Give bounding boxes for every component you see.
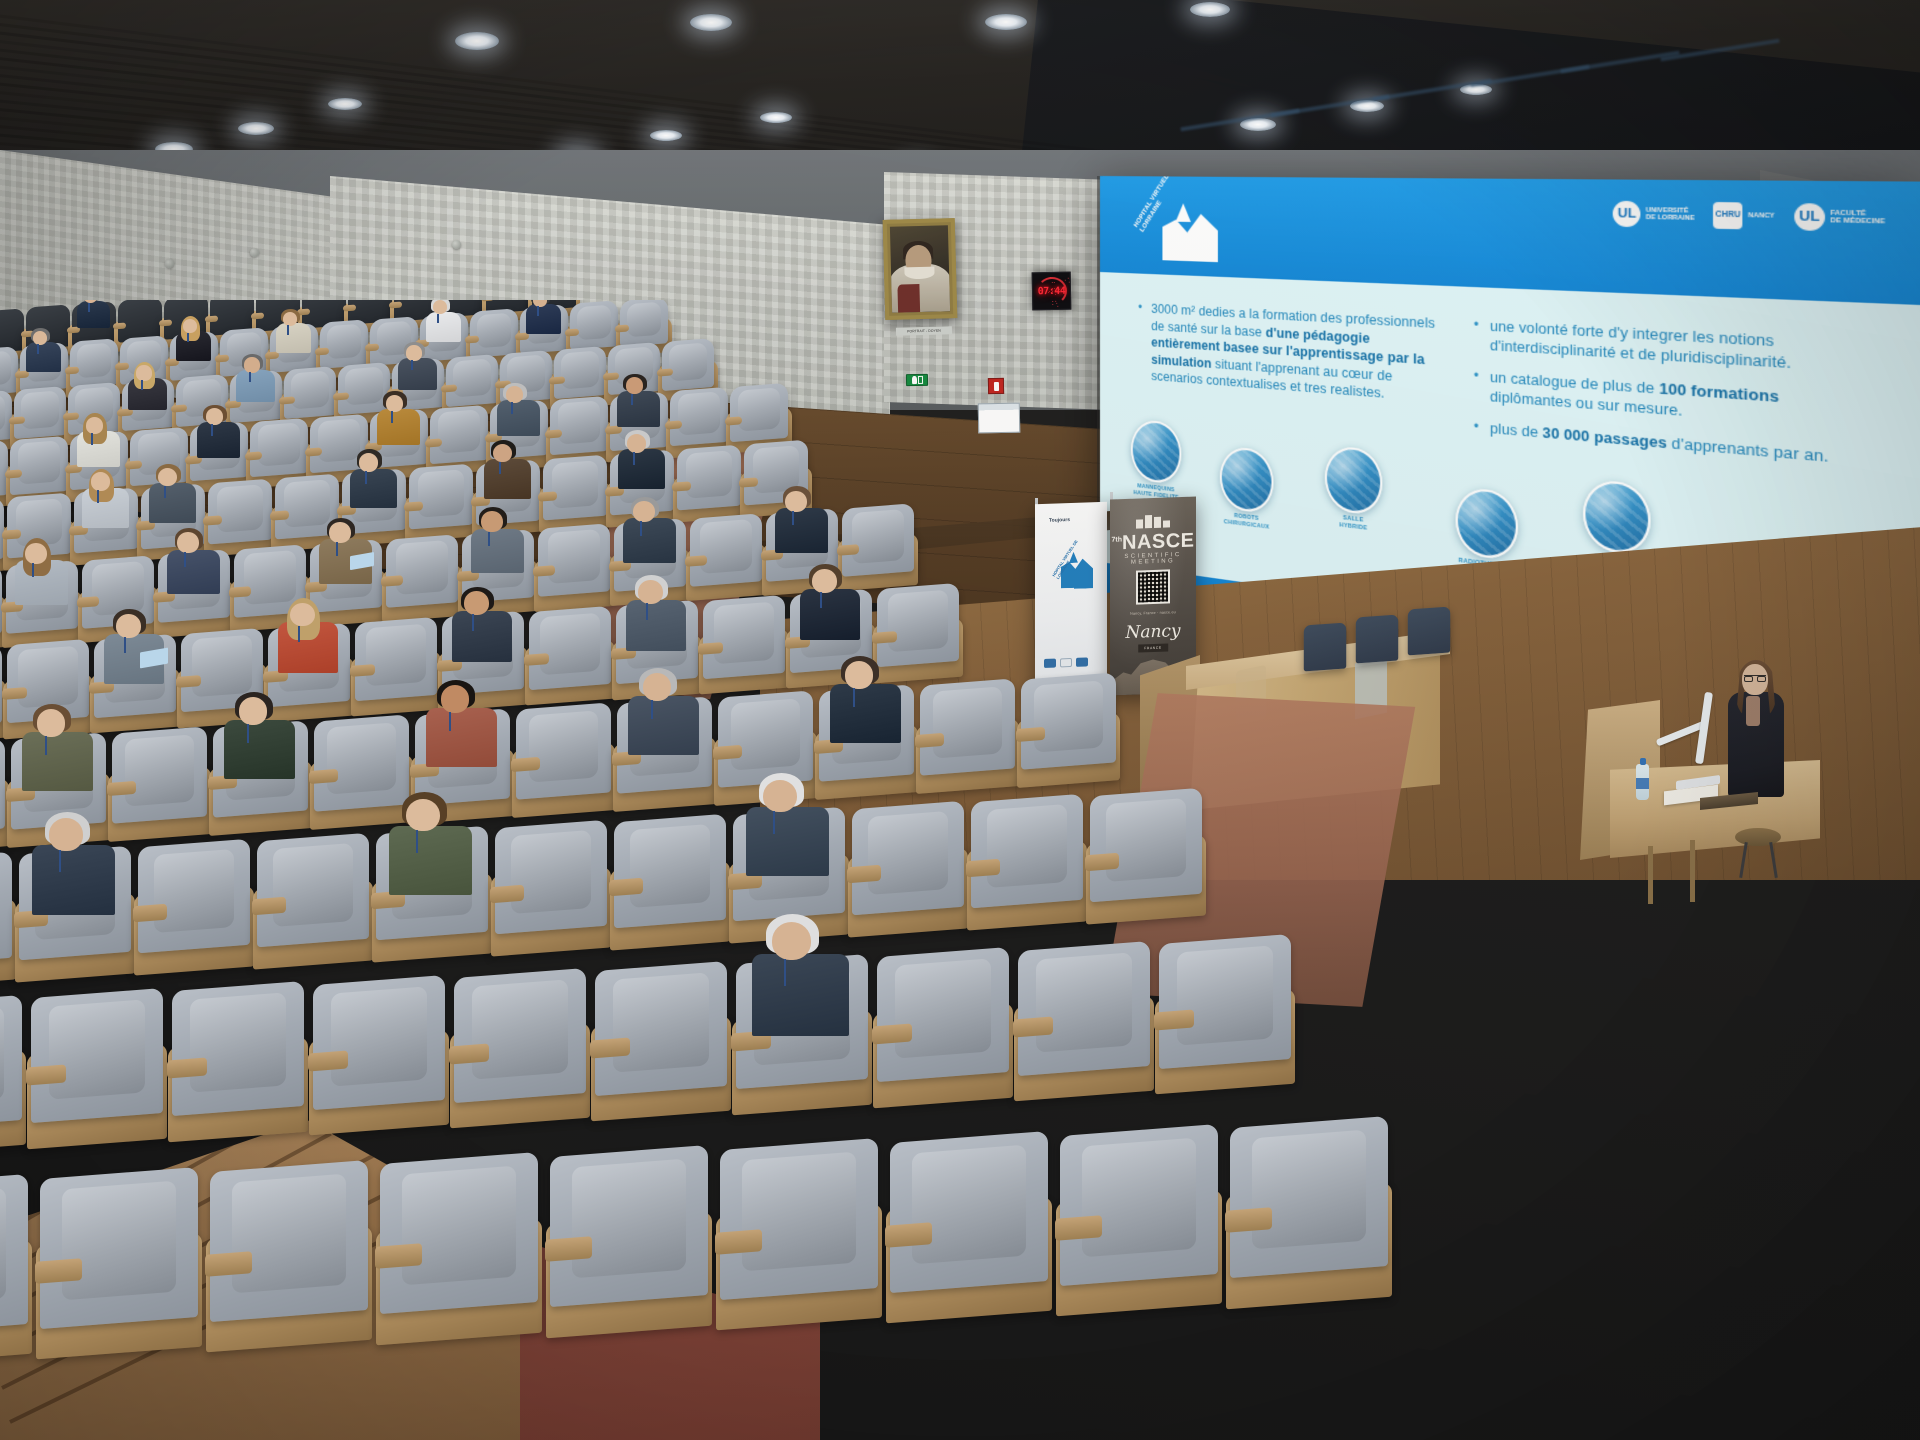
seat-armrest (308, 1051, 348, 1073)
seat-armrest (1055, 1215, 1102, 1241)
audience-member (13, 527, 78, 599)
auditorium-seat[interactable] (890, 1131, 1048, 1293)
auditorium-seat[interactable] (720, 1138, 878, 1300)
audience-member-head (329, 522, 351, 543)
audience-member-head (283, 312, 297, 326)
audience-member-head (845, 661, 874, 689)
auditorium-seat[interactable] (0, 852, 12, 967)
auditorium-seat[interactable] (516, 702, 611, 800)
audience-member (165, 516, 230, 588)
seat-armrest (404, 501, 423, 511)
seat-armrest (545, 1236, 592, 1262)
lanyard (91, 433, 93, 445)
audience-member (102, 596, 176, 678)
audience-member (482, 430, 540, 494)
audience-member (127, 354, 174, 406)
audience-member-head (290, 603, 315, 627)
lanyard (365, 471, 367, 484)
audience-member-head (643, 673, 672, 701)
auditorium-seat[interactable] (10, 435, 68, 495)
partner-logo-label: UNIVERSITÉ DE LORRAINE (1646, 207, 1695, 222)
lanyard (141, 380, 143, 390)
partner-logo: ULUNIVERSITÉ DE LORRAINE (1613, 198, 1695, 230)
audience-member (317, 506, 382, 578)
auditorium-seat[interactable] (677, 445, 741, 511)
partner-logo-mark: CHRU (1713, 202, 1742, 229)
audience-member-torso (775, 508, 828, 553)
lanyard (249, 372, 251, 382)
auditorium-seat[interactable] (920, 678, 1015, 776)
auditorium-seat[interactable] (380, 1152, 538, 1314)
audience-member-head (481, 511, 503, 532)
seat-armrest (1085, 852, 1119, 870)
seat-armrest (167, 1057, 207, 1079)
auditorium-seat[interactable] (70, 339, 118, 388)
audience-member-torso (22, 732, 92, 791)
seat-armrest (872, 1023, 912, 1045)
ceiling-downlight (760, 112, 792, 123)
auditorium-seat[interactable] (320, 320, 368, 369)
auditorium-seat[interactable] (1090, 788, 1202, 903)
audience-member (275, 301, 318, 349)
audience-member-head (136, 365, 152, 380)
audience-member-torso (623, 518, 676, 563)
audience-member-torso (452, 611, 513, 662)
audience-member-torso (830, 684, 900, 743)
auditorium-seat[interactable] (0, 738, 5, 836)
auditorium-seat[interactable] (730, 383, 788, 443)
audience-member (469, 496, 534, 568)
audience-member-torso (628, 696, 698, 755)
lanyard (773, 811, 775, 833)
partner-logo: CHRUNANCY (1713, 200, 1774, 233)
lanyard (164, 486, 166, 499)
lanyard (416, 830, 418, 852)
audience-member-head (785, 491, 807, 512)
audience-member (425, 665, 511, 760)
audience-member (749, 893, 868, 1025)
lanyard (391, 411, 393, 423)
audience-member-torso (32, 845, 115, 914)
audience-member (21, 689, 107, 784)
ceiling-downlight (1190, 2, 1230, 17)
audience-member (30, 794, 131, 906)
auditorium-seat[interactable] (313, 975, 445, 1111)
auditorium-seat[interactable] (877, 947, 1009, 1083)
audience-member (397, 334, 444, 386)
audience-member-head (386, 395, 403, 412)
audience-member (223, 677, 309, 772)
seat-armrest (1225, 1207, 1272, 1233)
audience-member-head (812, 569, 837, 593)
seat-armrest (490, 884, 524, 902)
lanyard (499, 462, 501, 475)
auditorium-seat[interactable] (570, 301, 618, 350)
lanyard (59, 850, 61, 872)
audience-member-torso (626, 600, 687, 651)
audience-member-head (177, 532, 199, 553)
seat-armrest (615, 324, 629, 332)
audience-member-torso (800, 589, 861, 640)
audience-member-head (638, 580, 663, 604)
seat-armrest (333, 392, 349, 400)
lanyard (336, 542, 338, 556)
auditorium-seat[interactable] (614, 813, 726, 928)
audience-member-torso (752, 954, 850, 1036)
auditorium-seat[interactable] (550, 1145, 708, 1307)
lanyard (184, 552, 186, 566)
auditorium-seat[interactable] (670, 387, 728, 447)
audience-member-head (441, 685, 470, 713)
audience-member (80, 458, 138, 522)
lanyard (124, 637, 126, 653)
lanyard (187, 333, 189, 343)
partner-logos-group: ULUNIVERSITÉ DE LORRAINECHRUNANCYULFACUL… (1613, 198, 1885, 234)
audience-member-torso (526, 304, 562, 334)
ceiling-downlight (455, 32, 499, 50)
seat-armrest (538, 491, 557, 501)
audience-member-head (33, 331, 47, 345)
lanyard (651, 700, 653, 719)
seat-armrest (159, 319, 172, 326)
audience-member (773, 475, 838, 547)
auditorium-seat[interactable] (172, 981, 304, 1117)
seat-armrest (549, 376, 565, 384)
auditorium-seat[interactable] (495, 820, 607, 935)
auditorium-seat[interactable] (0, 1174, 28, 1336)
lanyard (437, 314, 439, 324)
seat-armrest (133, 904, 167, 922)
audience-member (76, 404, 128, 462)
audience-member-head (763, 780, 797, 812)
ceiling-downlight (238, 122, 274, 135)
audience-member-torso (426, 708, 496, 767)
lanyard (633, 452, 635, 465)
audience-member-head (49, 818, 83, 850)
auditorium-seat[interactable] (543, 454, 607, 520)
audience-member-head (25, 543, 47, 564)
ceiling-speaker-icon (452, 240, 461, 249)
seat-armrest (252, 897, 286, 915)
seat-armrest (389, 301, 402, 308)
audience-member-head (626, 377, 643, 394)
audience-member (616, 365, 668, 423)
audience-member (196, 395, 248, 453)
audience-member (425, 300, 468, 338)
audience-member-head (627, 434, 646, 453)
audience-member-head (464, 591, 489, 615)
auditorium-seat[interactable] (257, 832, 369, 947)
auditorium-seat[interactable] (250, 418, 308, 478)
seat-armrest (35, 1258, 82, 1284)
partner-logo-label: NANCY (1748, 212, 1775, 220)
lanyard (411, 360, 413, 370)
auditorium-seat[interactable] (40, 1167, 198, 1329)
seat-armrest (533, 565, 555, 577)
audience-member-head (406, 345, 422, 360)
auditorium-seat[interactable] (31, 988, 163, 1124)
audience-member (798, 551, 872, 633)
ceiling-downlight (985, 14, 1027, 30)
audience-member-head (633, 501, 655, 522)
lanyard (97, 490, 99, 503)
audience-member-head (359, 453, 378, 472)
partner-logo-mark: UL (1613, 201, 1641, 228)
auditorium-seat[interactable] (1060, 1124, 1218, 1286)
ceiling-downlight (328, 98, 362, 110)
auditorium-seat[interactable] (971, 794, 1083, 909)
seat-armrest (26, 1064, 66, 1086)
auditorium-seat[interactable] (210, 1160, 368, 1322)
auditorium-seat[interactable] (529, 606, 611, 690)
seat-armrest (609, 878, 643, 896)
partner-logo-mark: UL (1794, 203, 1825, 231)
audience-member (616, 420, 674, 484)
audience-member-head (91, 472, 110, 491)
audience-member (496, 373, 548, 431)
audience-member-head (86, 417, 103, 434)
auditorium-seat[interactable] (284, 366, 336, 419)
seat-armrest (715, 1229, 762, 1255)
auditorium-seat[interactable] (470, 308, 518, 357)
lanyard (646, 603, 648, 619)
audience-member-torso (618, 449, 665, 489)
audience-member (624, 562, 698, 644)
lanyard (32, 563, 34, 577)
audience-member-head (506, 386, 523, 403)
auditorium-seat[interactable] (595, 961, 727, 1097)
audience-member (147, 454, 205, 518)
audience-member-head (244, 357, 260, 372)
audience-member-torso (484, 459, 531, 499)
audience-member-torso (26, 342, 62, 372)
audience-member (376, 382, 428, 440)
audience-member (450, 573, 524, 655)
lanyard (511, 402, 513, 414)
partner-logo: ULFACULTÉ DE MÉDECINE (1794, 201, 1885, 235)
auditorium-seat[interactable] (690, 513, 762, 587)
seat-armrest (305, 447, 322, 456)
ceiling-downlight (690, 14, 732, 31)
auditorium-seat[interactable] (620, 300, 668, 346)
lanyard (247, 724, 249, 743)
seat-armrest (9, 416, 25, 424)
audience-member-torso (167, 550, 220, 595)
seat-armrest (885, 1222, 932, 1248)
seat-armrest (229, 586, 251, 598)
auditorium-seat[interactable] (0, 995, 22, 1131)
audience-member (627, 653, 713, 748)
lanyard (853, 688, 855, 707)
audience-member (235, 346, 282, 398)
auditorium-seat[interactable] (662, 338, 714, 391)
lanyard (820, 592, 822, 608)
lanyard (537, 306, 539, 316)
seat-armrest (524, 653, 549, 666)
audience-member (0, 607, 2, 689)
seat-armrest (847, 865, 881, 883)
ceiling-downlight (650, 130, 682, 141)
audience-member-head (772, 922, 812, 960)
seat-armrest (77, 596, 99, 608)
audience-member-torso (389, 826, 472, 895)
lanyard (211, 424, 213, 436)
auditorium-seat[interactable] (1230, 1116, 1388, 1278)
auditorium-seat[interactable] (386, 534, 458, 608)
audience-member (0, 413, 8, 471)
audience-member (348, 439, 406, 503)
auditorium-seat[interactable] (138, 839, 250, 954)
seat-armrest (966, 859, 1000, 877)
audience-member-torso (77, 301, 110, 328)
audience-member-head (37, 709, 66, 737)
lanyard (37, 344, 39, 354)
audience-member (0, 532, 2, 604)
auditorium-seat[interactable] (1159, 934, 1291, 1070)
ceiling-speaker-icon (250, 248, 259, 257)
auditorium-seat[interactable] (409, 464, 473, 530)
lanyard (449, 712, 451, 731)
audience-member-torso (224, 720, 294, 779)
auditorium-photo: PORTRAIT - DOYEN 07:44 HOPITAL VIRTUEL D… (0, 0, 1920, 1440)
audience-member (829, 641, 915, 736)
audience-member-torso (350, 469, 397, 509)
seat-armrest (365, 343, 379, 351)
lanyard (784, 959, 786, 985)
audience-member (175, 309, 218, 357)
seat-armrest (1013, 1017, 1053, 1039)
seat-armrest (725, 416, 742, 425)
auditorium-seat[interactable] (852, 800, 964, 915)
audience-member (0, 468, 4, 532)
auditorium-seat[interactable] (446, 354, 498, 407)
audience-member (621, 485, 686, 557)
audience-member (276, 585, 350, 667)
auditorium-seat[interactable] (703, 594, 785, 678)
audience-member (525, 300, 568, 330)
seat-armrest (739, 477, 758, 487)
auditorium-seating (0, 300, 1920, 1440)
lanyard (640, 521, 642, 535)
audience-member-torso (471, 529, 524, 574)
ceiling-speaker-icon (165, 259, 174, 268)
auditorium-seat[interactable] (1018, 941, 1150, 1077)
audience-member-torso (746, 807, 829, 876)
audience-member (744, 755, 845, 867)
audience-member-head (406, 799, 440, 831)
seat-armrest (205, 1251, 252, 1277)
lanyard (88, 303, 90, 312)
lanyard (631, 394, 633, 406)
auditorium-seat[interactable] (454, 968, 586, 1104)
hvl-logo-icon: HOPITAL VIRTUEL DE LORRAINE (1135, 194, 1248, 271)
audience-member (76, 300, 116, 325)
auditorium-seat[interactable] (1021, 672, 1116, 770)
lanyard (792, 511, 794, 525)
timer-value: 07:44 (1033, 286, 1070, 298)
seat-armrest (375, 1243, 422, 1269)
seat-armrest (251, 312, 264, 319)
partner-logo-label: FACULTÉ DE MÉDECINE (1830, 210, 1885, 226)
auditorium-seat[interactable] (14, 386, 66, 439)
lanyard (298, 626, 300, 642)
seat-armrest (590, 1037, 630, 1059)
audience-member-head (206, 408, 223, 425)
auditorium-seat[interactable] (430, 405, 488, 465)
audience-member-head (239, 697, 268, 725)
audience-member (387, 774, 488, 886)
lanyard (472, 614, 474, 630)
auditorium-seat[interactable] (538, 524, 610, 598)
auditorium-seat[interactable] (554, 346, 606, 399)
auditorium-seat[interactable] (550, 396, 608, 456)
audience-member (25, 320, 68, 368)
slide-header-band: HOPITAL VIRTUEL DE LORRAINE ULUNIVERSITÉ… (1100, 176, 1920, 305)
lanyard (45, 736, 47, 755)
lanyard (488, 532, 490, 546)
lanyard (287, 325, 289, 335)
audience-member-head (116, 614, 141, 638)
